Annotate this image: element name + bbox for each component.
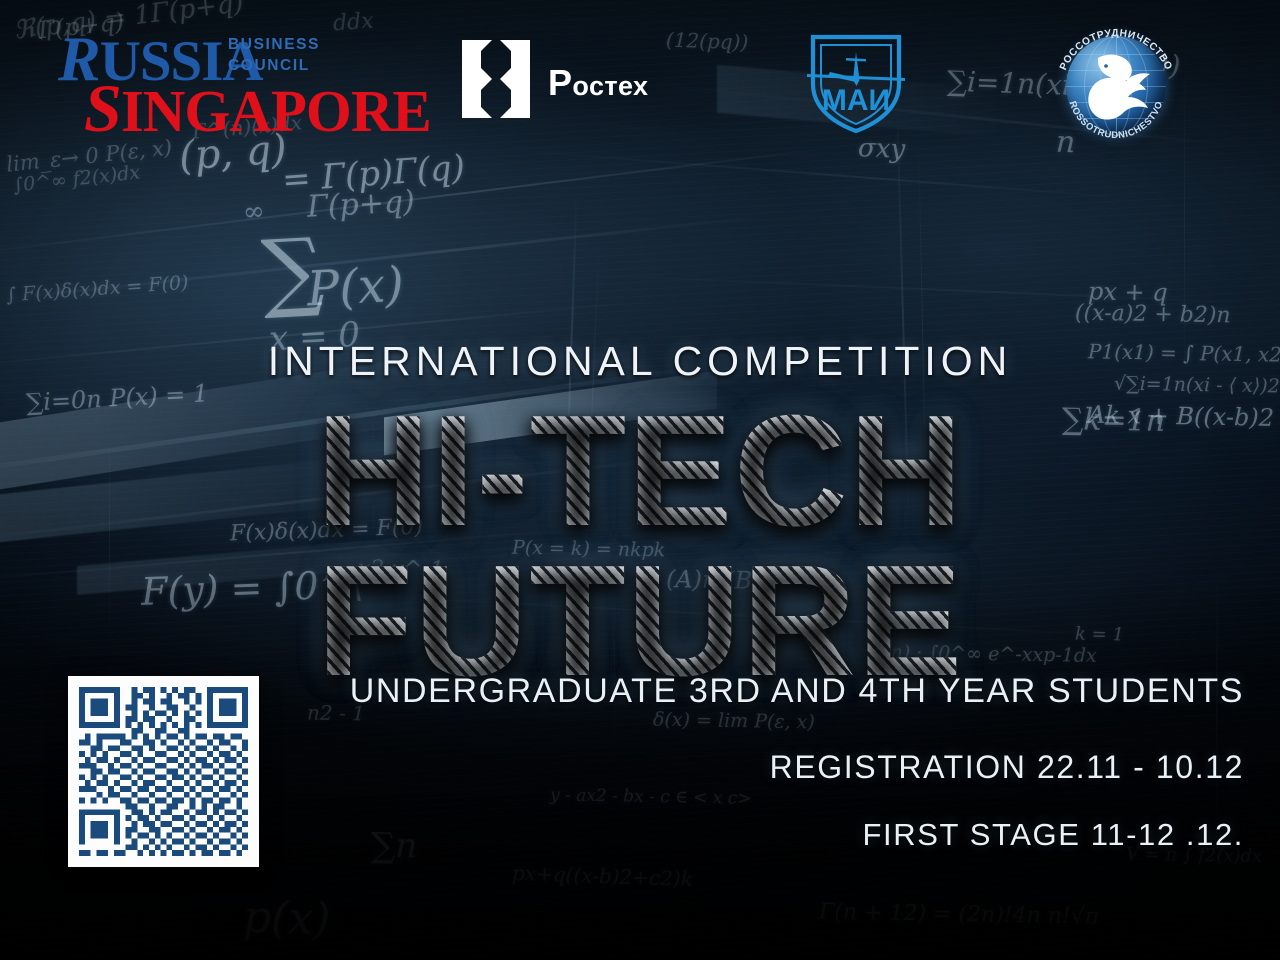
ring-text-cyrillic: РОССОТРУДНИЧЕСТВО	[1058, 28, 1174, 72]
logo-mai: МАИ	[804, 28, 908, 136]
rostec-word-cap: Р	[548, 62, 572, 103]
rossotrudnichestvo-ring-text: РОССОТРУДНИЧЕСТВО ROSSOTRUDNICHESTVO	[1052, 28, 1180, 144]
rsbc-singapore-wordmark: SINGAPORE	[84, 74, 431, 142]
registration-line: REGISTRATION 22.11 - 10.12	[770, 749, 1244, 786]
logo-rostec: Ростех	[462, 40, 677, 122]
audience-text: UNDERGRADUATE 3RD AND 4TH YEAR STUDENTS	[350, 672, 1244, 711]
headline-stack: HI-TECH FUTURE HI-TECH FUTURE	[0, 396, 1280, 696]
qr-code[interactable]	[68, 676, 259, 867]
first-stage-text: FIRST STAGE 11-12 .12.	[863, 817, 1245, 853]
rostec-bracket-mark-icon	[462, 40, 530, 118]
rsbc-singapore-text: INGAPORE	[121, 78, 431, 144]
qr-code-matrix[interactable]	[79, 687, 248, 856]
rsbc-subtitle: BUSINESS COUNCIL	[228, 34, 348, 76]
headline-hatch-overlay: HI-TECH FUTURE	[0, 396, 1280, 696]
audience-line: UNDERGRADUATE 3RD AND 4TH YEAR STUDENTS	[350, 672, 1244, 711]
logo-rossotrudnichestvo: РОССОТРУДНИЧЕСТВО ROSSOTRUDNICHESTVO	[1052, 28, 1180, 144]
mai-wordmark: МАИ	[822, 84, 890, 117]
poster-canvas: ℜ(p,q) = 1Γ(p+q)Γ(p+q)lim_ε→ 0 P(ε, x)∫0…	[0, 0, 1280, 960]
registration-text: REGISTRATION 22.11 - 10.12	[770, 749, 1244, 786]
ring-text-latin-path: ROSSOTRUDNICHESTVO	[1068, 99, 1165, 140]
kicker-line: INTERNATIONAL COMPETITION	[0, 338, 1280, 385]
sponsor-logo-row: RUSSIA BUSINESS COUNCIL SINGAPORE Ростех	[0, 0, 1280, 150]
rostec-wordmark: Ростех	[548, 62, 648, 104]
page-title: HI-TECH FUTURE HI-TECH FUTURE	[0, 396, 1280, 696]
ring-text-cyrillic-path: РОССОТРУДНИЧЕСТВО	[1058, 28, 1174, 72]
shield-aircraft-icon: МАИ	[804, 28, 908, 136]
logo-russia-singapore-business-council: RUSSIA BUSINESS COUNCIL SINGAPORE	[58, 27, 330, 117]
ring-text-latin: ROSSOTRUDNICHESTVO	[1068, 99, 1165, 140]
rsbc-singapore-swash-letter: S	[84, 70, 121, 146]
rsbc-subtitle-line1: BUSINESS	[228, 34, 348, 55]
rsbc-subtitle-line2: COUNCIL	[228, 55, 348, 76]
kicker-text: INTERNATIONAL COMPETITION	[268, 338, 1013, 385]
rostec-word-rest: остех	[572, 71, 648, 101]
first-stage-line: FIRST STAGE 11-12 .12.	[863, 817, 1245, 853]
